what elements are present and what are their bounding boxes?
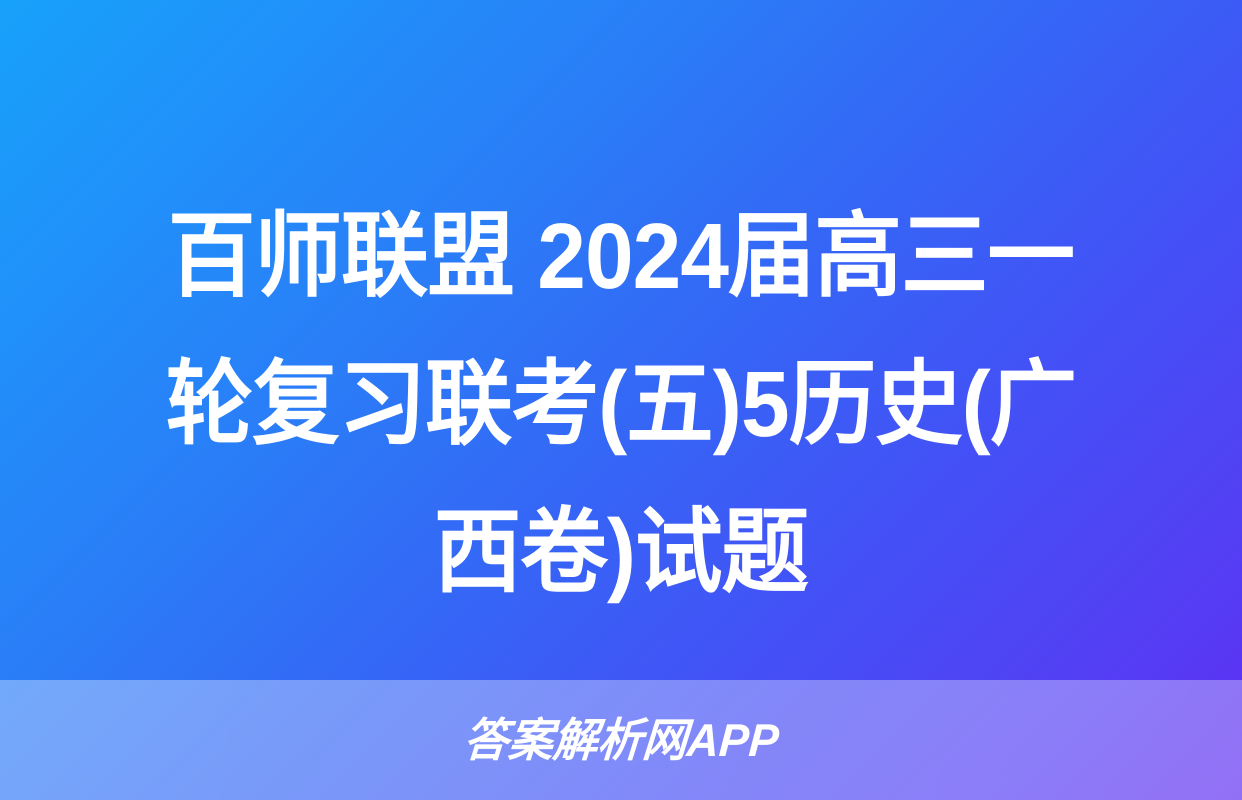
- title-line-3: 西卷)试题: [81, 478, 1162, 626]
- footer-band: 答案解析网APP: [0, 680, 1242, 800]
- page-title: 百师联盟 2024届高三一 轮复习联考(五)5历史(广 西卷)试题: [0, 182, 1242, 626]
- watermark-text: 答案解析网APP: [462, 717, 780, 763]
- title-line-2: 轮复习联考(五)5历史(广: [81, 330, 1162, 478]
- share-card: 百师联盟 2024届高三一 轮复习联考(五)5历史(广 西卷)试题 答案解析网A…: [0, 0, 1242, 800]
- title-line-1: 百师联盟 2024届高三一: [81, 182, 1162, 330]
